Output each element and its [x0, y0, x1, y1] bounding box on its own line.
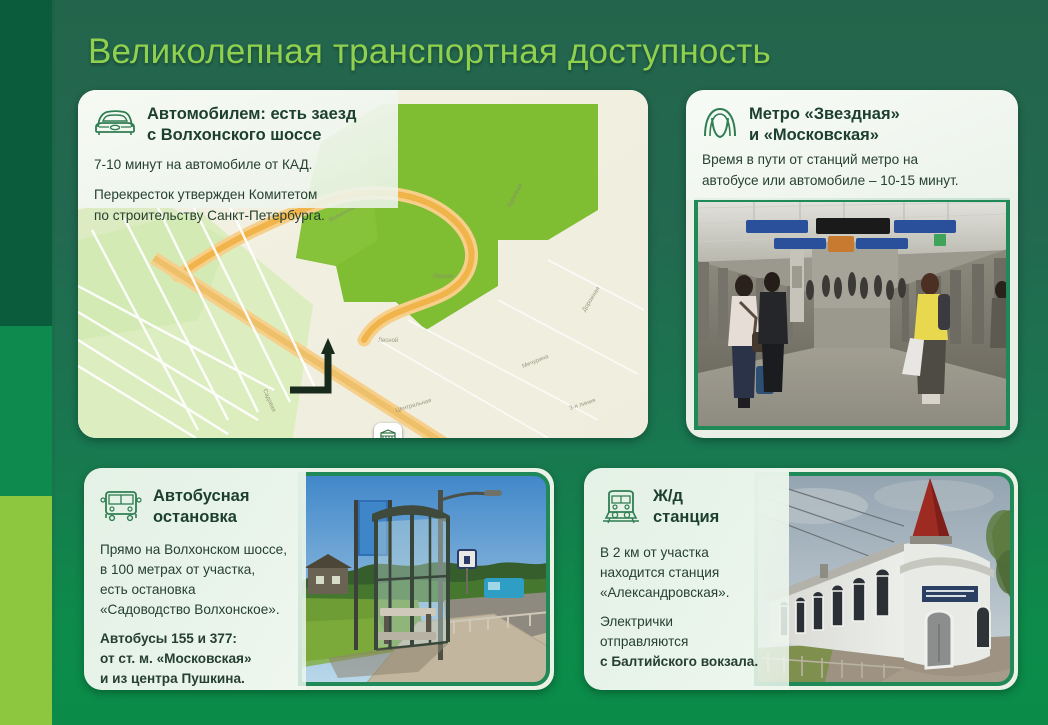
rail-para-3: «Александровская». — [600, 583, 777, 603]
gate-icon — [379, 428, 397, 438]
auto-text-panel: Автомобилем: есть заезд с Волхонского шо… — [78, 90, 398, 208]
auto-para-2: Перекресток утвержден Комитетом — [94, 184, 386, 205]
bus-bold-3: и из центра Пушкина. — [100, 669, 294, 689]
metro-m-icon — [702, 106, 738, 145]
metro-heading-line1: Метро «Звездная» — [749, 105, 900, 123]
auto-heading-line1: Автомобилем: есть заезд — [147, 105, 356, 123]
bus-para-2: в 100 метрах от участка, — [100, 560, 294, 580]
rail-para-4: Электрички — [600, 612, 777, 632]
bus-para-4: «Садоводство Волхонское». — [100, 600, 294, 620]
photo-frame — [754, 472, 1014, 686]
metro-para-1: Время в пути от станций метро на — [702, 149, 1006, 170]
bar-divider — [52, 0, 55, 725]
bus-heading-line1: Автобусная — [153, 487, 249, 505]
card-bus: Автобусная остановка Прямо на Волхонском… — [84, 468, 554, 690]
card-auto: Волхонское ш. Заречная Лесная Мичурина С… — [78, 90, 648, 438]
car-icon — [94, 106, 136, 141]
color-segment-light — [0, 496, 52, 725]
photo-bus-stop — [298, 472, 550, 686]
card-rail: Ж/д станция В 2 км от участка находится … — [584, 468, 1018, 690]
bus-body: Прямо на Волхонском шоссе, в 100 метрах … — [84, 528, 306, 689]
map-label: Лесной — [378, 337, 398, 344]
auto-para-3: по строительству Санкт-Петербурга. — [94, 205, 386, 226]
photo-railway-station — [754, 472, 1014, 686]
map-label: Лесная — [433, 274, 453, 280]
left-color-bar — [0, 0, 52, 725]
bus-para-1: Прямо на Волхонском шоссе, — [100, 540, 294, 560]
photo-metro-platform — [694, 198, 1010, 430]
map-marker-entrance[interactable] — [374, 423, 402, 438]
slide-canvas: Великолепная транспортная доступность — [0, 0, 1048, 725]
metro-text-panel: Метро «Звездная» и «Московская» Время в … — [686, 90, 1018, 200]
card-metro: Метро «Звездная» и «Московская» Время в … — [686, 90, 1018, 438]
rail-para-2: находится станция — [600, 563, 777, 583]
page-title: Великолепная транспортная доступность — [88, 32, 958, 72]
train-icon — [600, 488, 642, 529]
rail-para-1: В 2 км от участка — [600, 543, 777, 563]
auto-para-1: 7-10 минут на автомобиле от КАД. — [94, 154, 386, 175]
rail-heading-line2: станция — [653, 508, 719, 526]
color-segment-mid — [0, 326, 52, 496]
photo-frame — [694, 198, 1010, 430]
auto-body: 7-10 минут на автомобиле от КАД. Перекре… — [78, 146, 398, 226]
rail-bold-1: с Балтийского вокзала. — [600, 652, 777, 672]
rail-body: В 2 км от участка находится станция «Але… — [584, 529, 789, 672]
metro-para-2: автобусе или автомобиле – 10-15 минут. — [702, 170, 1006, 191]
bus-heading-line2: остановка — [153, 508, 237, 526]
rail-text-panel: Ж/д станция В 2 км от участка находится … — [584, 468, 789, 690]
bus-bold-2: от ст. м. «Московская» — [100, 649, 294, 669]
metro-body: Время в пути от станций метро на автобус… — [686, 146, 1018, 191]
metro-heading-line2: и «Московская» — [749, 126, 879, 144]
bus-text-panel: Автобусная остановка Прямо на Волхонском… — [84, 468, 306, 690]
auto-heading-line2: с Волхонского шоссе — [147, 126, 321, 144]
bus-para-3: есть остановка — [100, 580, 294, 600]
color-segment-dark — [0, 0, 52, 326]
bus-bold-1: Автобусы 155 и 377: — [100, 629, 294, 649]
photo-frame — [298, 472, 550, 686]
rail-para-5: отправляются — [600, 632, 777, 652]
rail-heading-line1: Ж/д — [653, 487, 683, 505]
bus-icon — [100, 488, 142, 527]
